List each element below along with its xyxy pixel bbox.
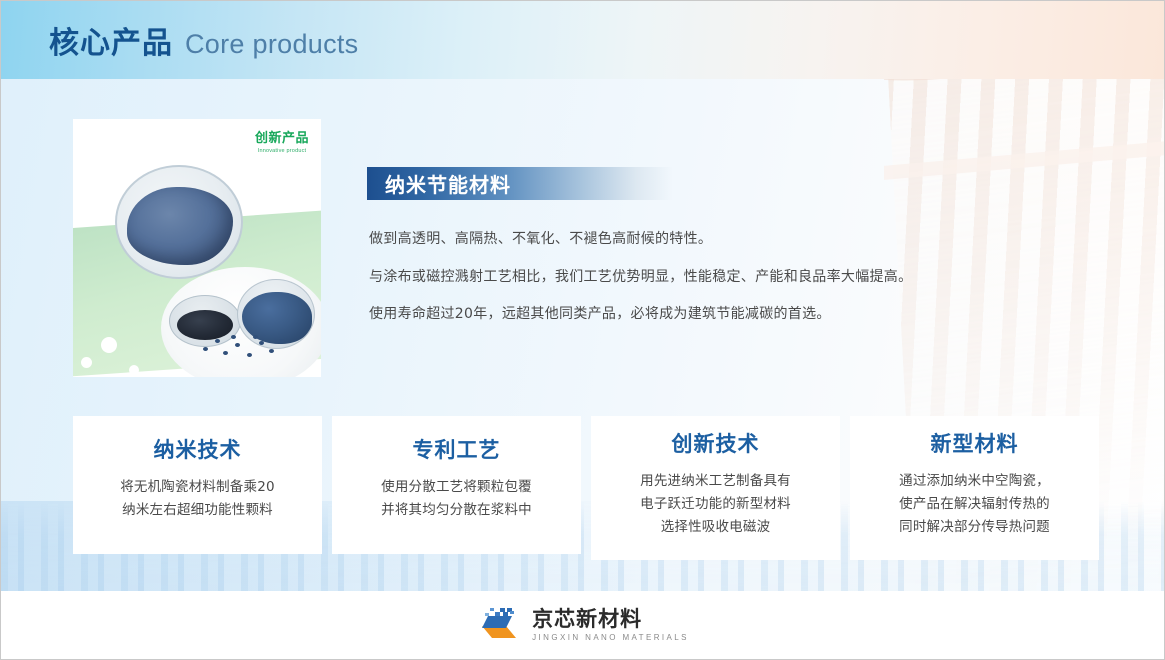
card-desc-line: 将无机陶瓷材料制备乘20 (87, 476, 308, 499)
card-desc-line: 使产品在解决辐射传热的 (864, 493, 1085, 516)
feature-card-title: 纳米技术 (87, 434, 308, 464)
feature-card-title: 创新技术 (605, 428, 826, 458)
logo-text: 京芯新材料 JINGXIN NANO MATERIALS (532, 608, 689, 642)
feature-paragraph: 做到高透明、高隔热、不氧化、不褪色高耐候的特性。 (369, 229, 1029, 251)
logo-mark-icon (476, 606, 522, 644)
card-desc-line: 电子跃迁功能的新型材料 (605, 493, 826, 516)
card-desc-line: 通过添加纳米中空陶瓷， (864, 470, 1085, 493)
feature-paragraph: 使用寿命超过20年，远超其他同类产品，必将成为建筑节能减碳的首选。 (369, 304, 1029, 326)
slide: 核心产品 Core products 创新产品 Innovative produ… (0, 0, 1165, 660)
card-desc-line: 使用分散工艺将颗粒包覆 (346, 476, 567, 499)
header-inner: 核心产品 Core products (1, 18, 358, 62)
feature-card-title: 专利工艺 (346, 434, 567, 464)
innovative-product-badge: 创新产品 Innovative product (255, 127, 309, 154)
logo-name-cn: 京芯新材料 (532, 608, 689, 630)
petri-dish-large-icon (115, 165, 243, 279)
card-desc-line: 纳米左右超细功能性颗料 (87, 499, 308, 522)
feature-paragraph: 与涂布或磁控溅射工艺相比，我们工艺优势明显，性能稳定、产能和良品率大幅提高。 (369, 267, 1029, 289)
logo-name-en: JINGXIN NANO MATERIALS (532, 633, 689, 642)
feature-card[interactable]: 专利工艺 使用分散工艺将颗粒包覆 并将其均匀分散在浆料中 (332, 416, 581, 554)
card-desc-line: 同时解决部分传导热问题 (864, 516, 1085, 539)
feature-card-title: 新型材料 (864, 428, 1085, 458)
feature-card[interactable]: 纳米技术 将无机陶瓷材料制备乘20 纳米左右超细功能性颗料 (73, 416, 322, 554)
feature-card-description: 通过添加纳米中空陶瓷， 使产品在解决辐射传热的 同时解决部分传导热问题 (864, 470, 1085, 540)
page-footer: 京芯新材料 JINGXIN NANO MATERIALS (1, 591, 1164, 659)
feature-title-banner: 纳米节能材料 (367, 167, 673, 200)
spilled-pellets (201, 333, 289, 359)
feature-description: 做到高透明、高隔热、不氧化、不褪色高耐候的特性。 与涂布或磁控溅射工艺相比，我们… (369, 229, 1029, 342)
product-photo: 创新产品 Innovative product (73, 119, 321, 377)
page-title-cn: 核心产品 (49, 18, 173, 62)
photo-dot-3 (129, 365, 139, 375)
page-header: 核心产品 Core products (1, 1, 1164, 79)
badge-label-cn: 创新产品 (255, 127, 309, 146)
blue-powder (127, 187, 233, 265)
feature-card[interactable]: 创新技术 用先进纳米工艺制备具有 电子跃迁功能的新型材料 选择性吸收电磁波 (591, 416, 840, 560)
feature-card[interactable]: 新型材料 通过添加纳米中空陶瓷， 使产品在解决辐射传热的 同时解决部分传导热问题 (850, 416, 1099, 560)
feature-card-description: 用先进纳米工艺制备具有 电子跃迁功能的新型材料 选择性吸收电磁波 (605, 470, 826, 540)
card-desc-line: 选择性吸收电磁波 (605, 516, 826, 539)
card-desc-line: 用先进纳米工艺制备具有 (605, 470, 826, 493)
feature-card-list: 纳米技术 将无机陶瓷材料制备乘20 纳米左右超细功能性颗料 专利工艺 使用分散工… (73, 416, 1099, 560)
feature-card-description: 使用分散工艺将颗粒包覆 并将其均匀分散在浆料中 (346, 476, 567, 522)
photo-dot-1 (101, 337, 117, 353)
feature-card-description: 将无机陶瓷材料制备乘20 纳米左右超细功能性颗料 (87, 476, 308, 522)
company-logo: 京芯新材料 JINGXIN NANO MATERIALS (476, 606, 689, 644)
feature-title: 纳米节能材料 (367, 169, 511, 198)
card-desc-line: 并将其均匀分散在浆料中 (346, 499, 567, 522)
page-title-en: Core products (185, 29, 358, 60)
photo-dot-2 (81, 357, 92, 368)
logo-svg (476, 606, 522, 644)
badge-label-en: Innovative product (255, 148, 309, 154)
